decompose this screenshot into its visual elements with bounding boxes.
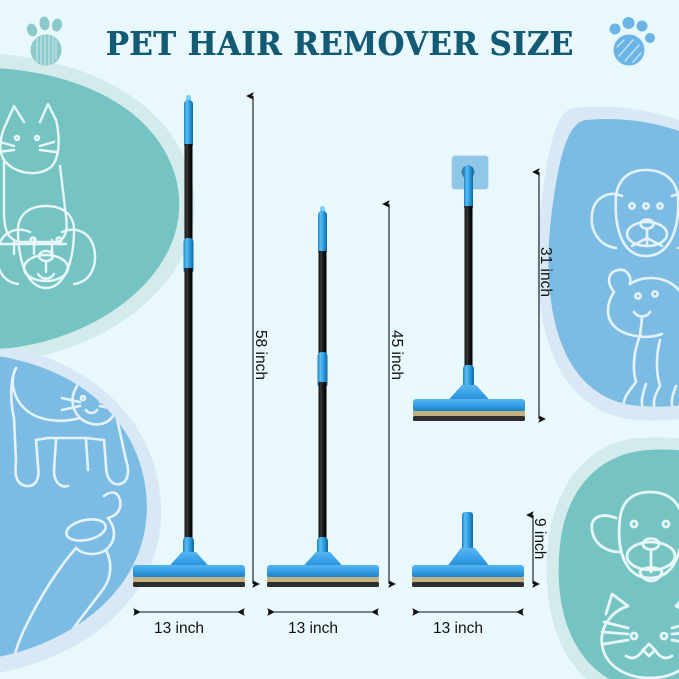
squeegee-head-bar-2 bbox=[267, 565, 379, 578]
dimension-label-width-2: 13 inch bbox=[288, 620, 338, 638]
upper-grip-3 bbox=[464, 166, 473, 210]
dimension-label-9-inch: 9 inch bbox=[530, 518, 548, 559]
pole-lower-2 bbox=[319, 382, 327, 542]
squeegee-head-bar-3 bbox=[413, 399, 525, 412]
pet-hair-remover-size-infographic: PET HAIR REMOVER SIZE bbox=[0, 0, 679, 679]
dimension-label-58-inch: 58 inch bbox=[251, 330, 269, 380]
upper-grip bbox=[184, 100, 193, 148]
product-medium-length-squeegee-mop bbox=[267, 206, 379, 587]
dimension-label-45-inch: 45 inch bbox=[387, 330, 405, 380]
product-wall-mount-squeegee-mop bbox=[413, 156, 525, 421]
page-title: PET HAIR REMOVER SIZE bbox=[106, 24, 574, 63]
squeegee-blade-2 bbox=[267, 582, 379, 587]
squeegee-head-bar bbox=[133, 565, 245, 578]
dimension-label-31-inch: 31 inch bbox=[536, 247, 554, 297]
product-size-diagram bbox=[0, 0, 679, 679]
paw-print-icon-right bbox=[605, 16, 659, 70]
product-squeegee-head-only bbox=[412, 512, 524, 587]
squeegee-blade-3 bbox=[413, 416, 525, 421]
pole-3 bbox=[465, 206, 473, 392]
paw-print-icon-left bbox=[20, 16, 74, 70]
product-full-length-squeegee-mop bbox=[133, 95, 245, 587]
squeegee-sponge-strip-4 bbox=[412, 577, 524, 582]
squeegee-sponge-strip bbox=[133, 577, 245, 582]
dimension-label-width-3: 13 inch bbox=[433, 620, 483, 638]
squeegee-head-bar-4 bbox=[412, 565, 524, 578]
squeegee-sponge-strip-2 bbox=[267, 577, 379, 582]
page-title-row: PET HAIR REMOVER SIZE bbox=[0, 12, 679, 74]
upper-grip-2 bbox=[318, 211, 327, 255]
squeegee-sponge-strip-3 bbox=[413, 411, 525, 416]
squeegee-blade bbox=[133, 582, 245, 587]
pole-lower bbox=[185, 268, 193, 542]
dimension-label-width-1: 13 inch bbox=[154, 620, 204, 638]
squeegee-blade-4 bbox=[412, 582, 524, 587]
